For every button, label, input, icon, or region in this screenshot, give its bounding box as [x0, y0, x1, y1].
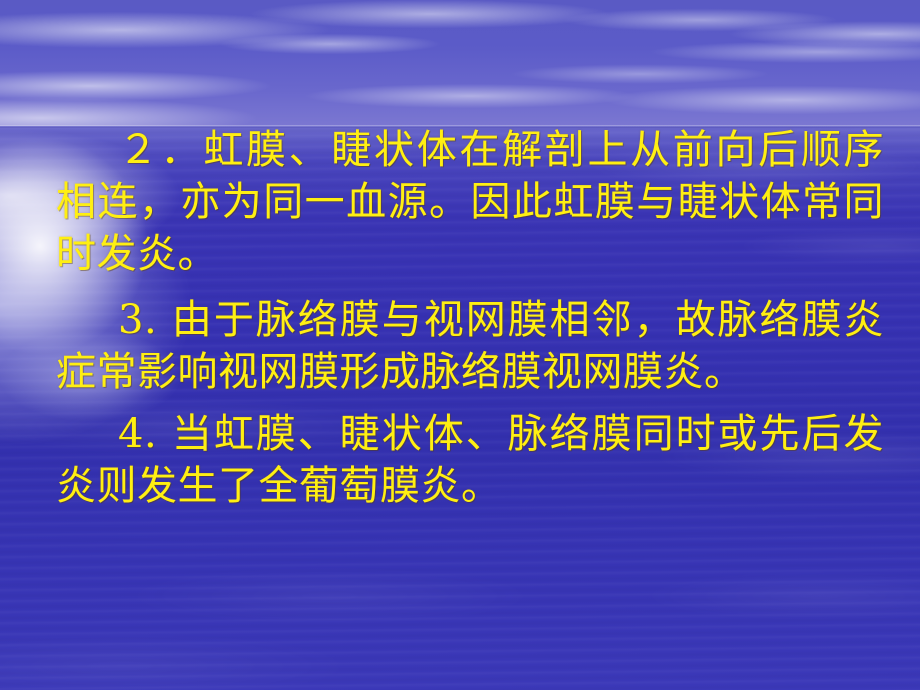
slide-canvas: ２．虹膜、睫状体在解剖上从前向后顺序相连，亦为同一血源。因此虹膜与睫状体常同时发… [0, 0, 920, 690]
slide-text-content: ２．虹膜、睫状体在解剖上从前向后顺序相连，亦为同一血源。因此虹膜与睫状体常同时发… [0, 0, 920, 690]
body-paragraph-4: 4. 当虹膜、睫状体、脉络膜同时或先后发炎则发生了全葡萄膜炎。 [56, 408, 884, 512]
body-paragraph-3: 3. 由于脉络膜与视网膜相邻，故脉络膜炎症常影响视网膜形成脉络膜视网膜炎。 [56, 294, 884, 398]
body-paragraph-2: ２．虹膜、睫状体在解剖上从前向后顺序相连，亦为同一血源。因此虹膜与睫状体常同时发… [56, 124, 884, 280]
